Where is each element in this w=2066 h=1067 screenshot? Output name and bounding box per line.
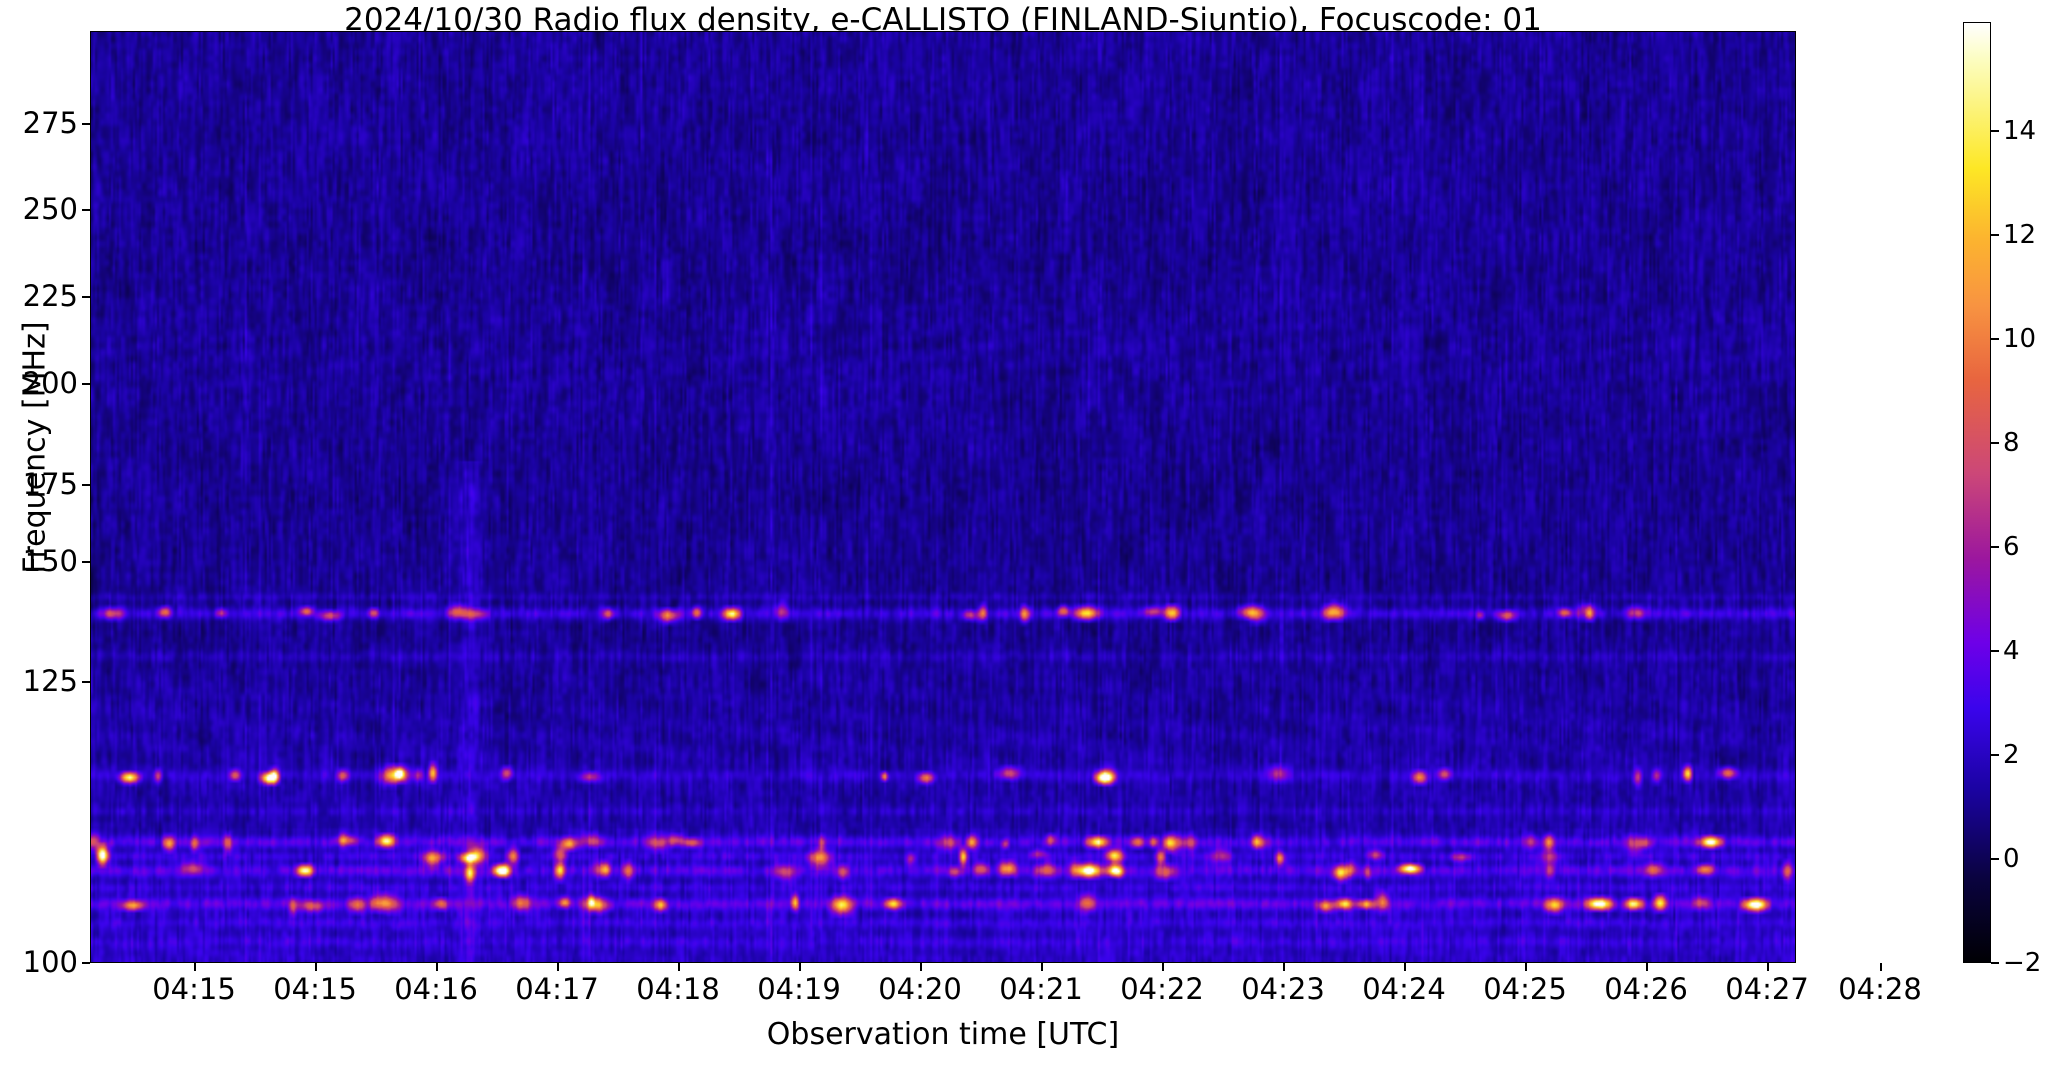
spectrogram-image — [91, 32, 1795, 962]
colorbar-tick-label: 4 — [2003, 636, 2020, 666]
y-tick-label: 275 — [10, 106, 78, 140]
colorbar-tick-mark — [1991, 442, 1999, 444]
spectrogram-axes — [90, 31, 1796, 963]
x-tick-label: 04:27 — [1725, 972, 1809, 1006]
colorbar-tick-mark — [1991, 338, 1999, 340]
x-tick-mark — [315, 963, 317, 971]
y-tick-mark — [82, 383, 90, 385]
y-tick-mark — [82, 561, 90, 563]
colorbar-tick-label: 10 — [2003, 324, 2036, 354]
figure-canvas: 2024/10/30 Radio flux density, e-CALLIST… — [0, 0, 2066, 1067]
x-tick-label: 04:25 — [1483, 972, 1567, 1006]
x-tick-label: 04:21 — [999, 972, 1083, 1006]
x-tick-label: 04:24 — [1362, 972, 1446, 1006]
x-tick-label: 04:19 — [757, 972, 841, 1006]
y-axis-label: Frequency [MHz] — [18, 198, 53, 698]
colorbar-tick-mark — [1991, 130, 1999, 132]
y-tick-label: 100 — [10, 945, 78, 979]
colorbar-tick-label: 2 — [2003, 740, 2020, 770]
x-tick-label: 04:20 — [878, 972, 962, 1006]
x-tick-label: 04:15 — [273, 972, 357, 1006]
colorbar-tick-label: 14 — [2003, 116, 2036, 146]
colorbar-tick-label: 12 — [2003, 220, 2036, 250]
x-tick-mark — [1525, 963, 1527, 971]
y-tick-mark — [82, 123, 90, 125]
colorbar-tick-label: 0 — [2003, 844, 2020, 874]
x-tick-label: 04:17 — [515, 972, 599, 1006]
colorbar-gradient — [1963, 22, 1991, 963]
y-tick-mark — [82, 484, 90, 486]
x-tick-mark — [799, 963, 801, 971]
colorbar-tick-mark — [1991, 754, 1999, 756]
colorbar-tick-label: −2 — [2003, 948, 2041, 978]
x-tick-mark — [678, 963, 680, 971]
x-tick-mark — [436, 963, 438, 971]
x-axis-label: Observation time [UTC] — [90, 1017, 1796, 1052]
y-tick-mark — [82, 209, 90, 211]
x-tick-mark — [1880, 963, 1882, 971]
x-tick-label: 04:26 — [1604, 972, 1688, 1006]
x-tick-mark — [1646, 963, 1648, 971]
y-tick-mark — [82, 681, 90, 683]
colorbar-container: 14121086420−2 — [1963, 22, 1991, 963]
colorbar-tick-mark — [1991, 858, 1999, 860]
x-tick-label: 04:15 — [152, 972, 236, 1006]
y-tick-mark — [82, 296, 90, 298]
x-tick-mark — [1283, 963, 1285, 971]
x-tick-mark — [920, 963, 922, 971]
x-tick-label: 04:23 — [1241, 972, 1325, 1006]
colorbar-tick-mark — [1991, 650, 1999, 652]
colorbar-tick-mark — [1991, 962, 1999, 964]
x-tick-label: 04:18 — [636, 972, 720, 1006]
y-tick-mark — [82, 962, 90, 964]
x-tick-mark — [1041, 963, 1043, 971]
colorbar-tick-mark — [1991, 234, 1999, 236]
x-tick-mark — [1404, 963, 1406, 971]
x-tick-mark — [557, 963, 559, 971]
x-tick-mark — [1767, 963, 1769, 971]
x-tick-label: 04:16 — [394, 972, 478, 1006]
x-tick-mark — [1162, 963, 1164, 971]
colorbar-tick-label: 8 — [2003, 428, 2020, 458]
colorbar-tick-label: 6 — [2003, 532, 2020, 562]
x-tick-label: 04:22 — [1120, 972, 1204, 1006]
colorbar-tick-mark — [1991, 546, 1999, 548]
x-tick-mark — [194, 963, 196, 971]
x-tick-label: 04:28 — [1838, 972, 1922, 1006]
